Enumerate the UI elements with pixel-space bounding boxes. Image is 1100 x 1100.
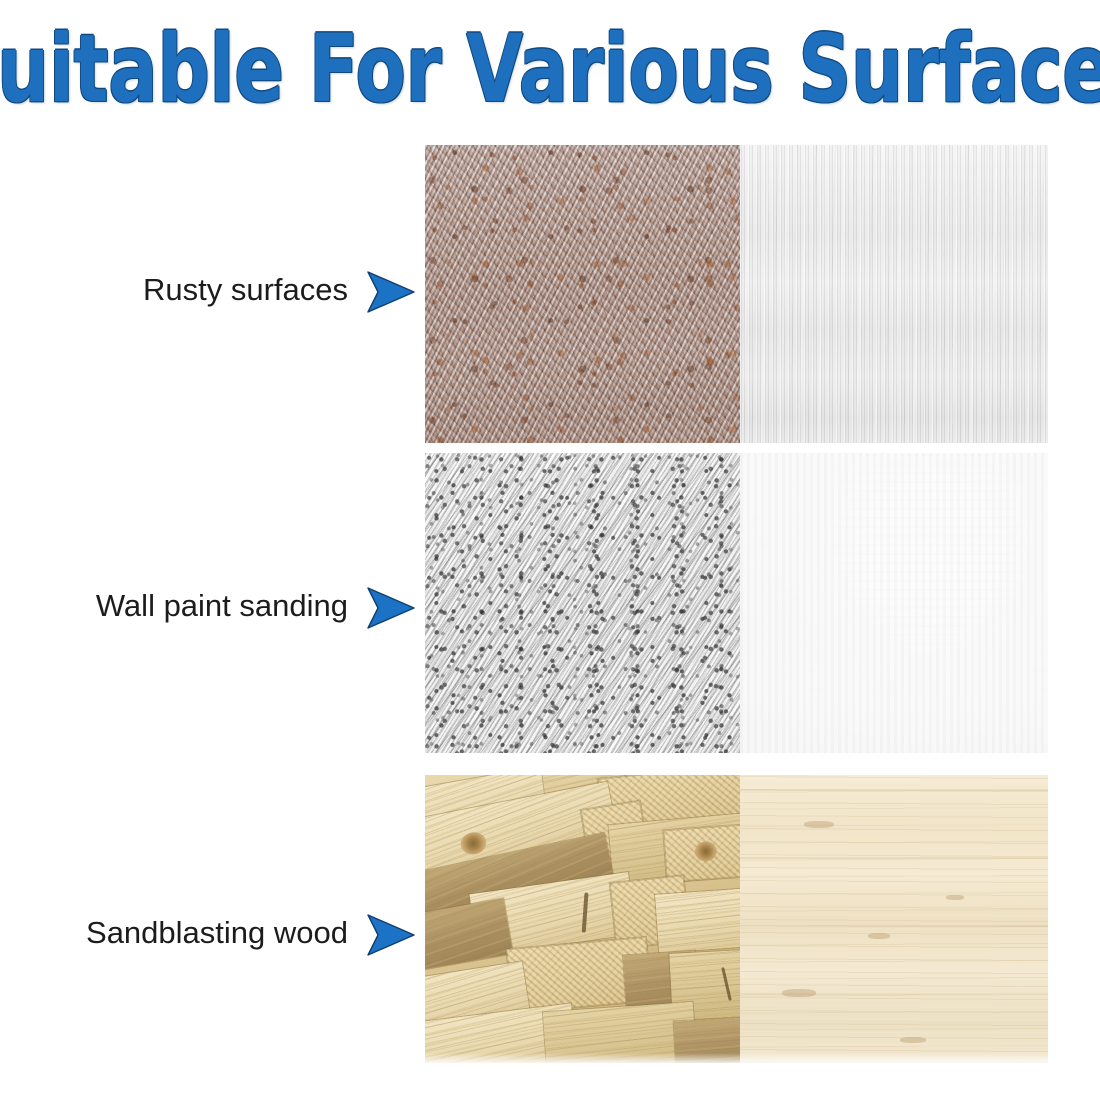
surface-row-rusty: Rusty surfaces: [0, 145, 1100, 443]
surface-row-wall-paint: Wall paint sanding: [0, 453, 1100, 753]
arrow-right-icon: [364, 584, 418, 632]
image-rusty-metal-surface: [425, 145, 740, 443]
image-rough-sawn-lumber-stack: [425, 775, 740, 1063]
arrow-right-icon: [364, 911, 418, 959]
surface-label-wood: Sandblasting wood: [0, 915, 348, 951]
arrow-right-icon: [364, 268, 418, 316]
surface-comparison-wall-paint: [425, 453, 1048, 753]
surface-row-wood: Sandblasting wood: [0, 775, 1100, 1063]
surface-label-rusty: Rusty surfaces: [0, 272, 348, 308]
page-title-banner: Suitable For Various Surfaces: [0, 26, 1100, 112]
image-rough-stucco-wall: [425, 453, 740, 753]
surface-comparison-wood: [425, 775, 1048, 1063]
image-brushed-metal-surface: [740, 145, 1048, 443]
page-title: Suitable For Various Surfaces: [0, 22, 1100, 115]
image-smooth-painted-wall: [740, 453, 1048, 753]
image-smooth-bamboo-board: [740, 775, 1048, 1063]
panel-bottom-fade: [740, 1053, 1048, 1063]
surface-label-wall-paint: Wall paint sanding: [0, 588, 348, 624]
surface-comparison-rusty: [425, 145, 1048, 443]
